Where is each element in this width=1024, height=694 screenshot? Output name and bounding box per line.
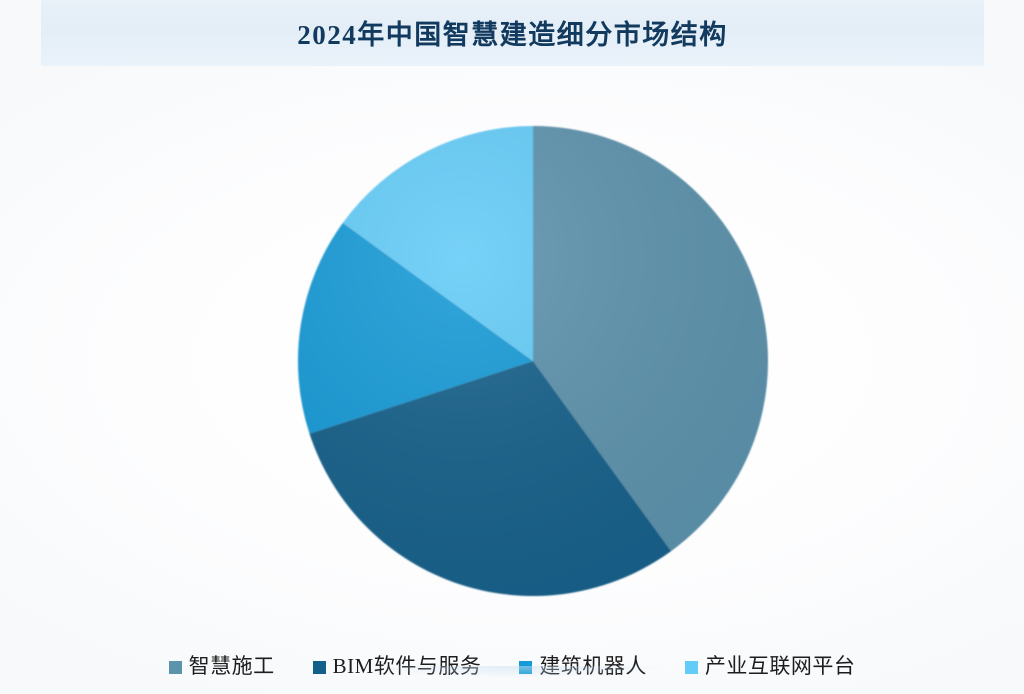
legend-item-0[interactable]: 智慧施工 [169,656,275,677]
chart-title: 2024年中国智慧建造细分市场结构 [297,22,728,49]
legend-label-2: 建筑机器人 [539,656,647,677]
legend-label-3: 产业互联网平台 [705,656,856,677]
legend-swatch-icon-1 [313,661,326,674]
legend-item-3[interactable]: 产业互联网平台 [685,656,856,677]
chart-legend: 智慧施工 BIM软件与服务 建筑机器人 产业互联网平台 [0,644,1024,688]
pie-chart-svg [0,66,1024,628]
pie-slices [298,126,768,596]
legend-item-2[interactable]: 建筑机器人 [519,656,647,677]
legend-label-0: 智慧施工 [189,656,275,677]
pie-chart-area [0,66,1024,628]
chart-figure: 2024年中国智慧建造细分市场结构 [0,0,1024,694]
legend-swatch-icon-3 [685,661,698,674]
chart-title-banner: 2024年中国智慧建造细分市场结构 [41,0,984,66]
legend-swatch-icon-2 [519,661,532,674]
legend-swatch-icon-0 [169,661,182,674]
legend-item-1[interactable]: BIM软件与服务 [313,656,482,677]
legend-label-1: BIM软件与服务 [333,656,482,677]
